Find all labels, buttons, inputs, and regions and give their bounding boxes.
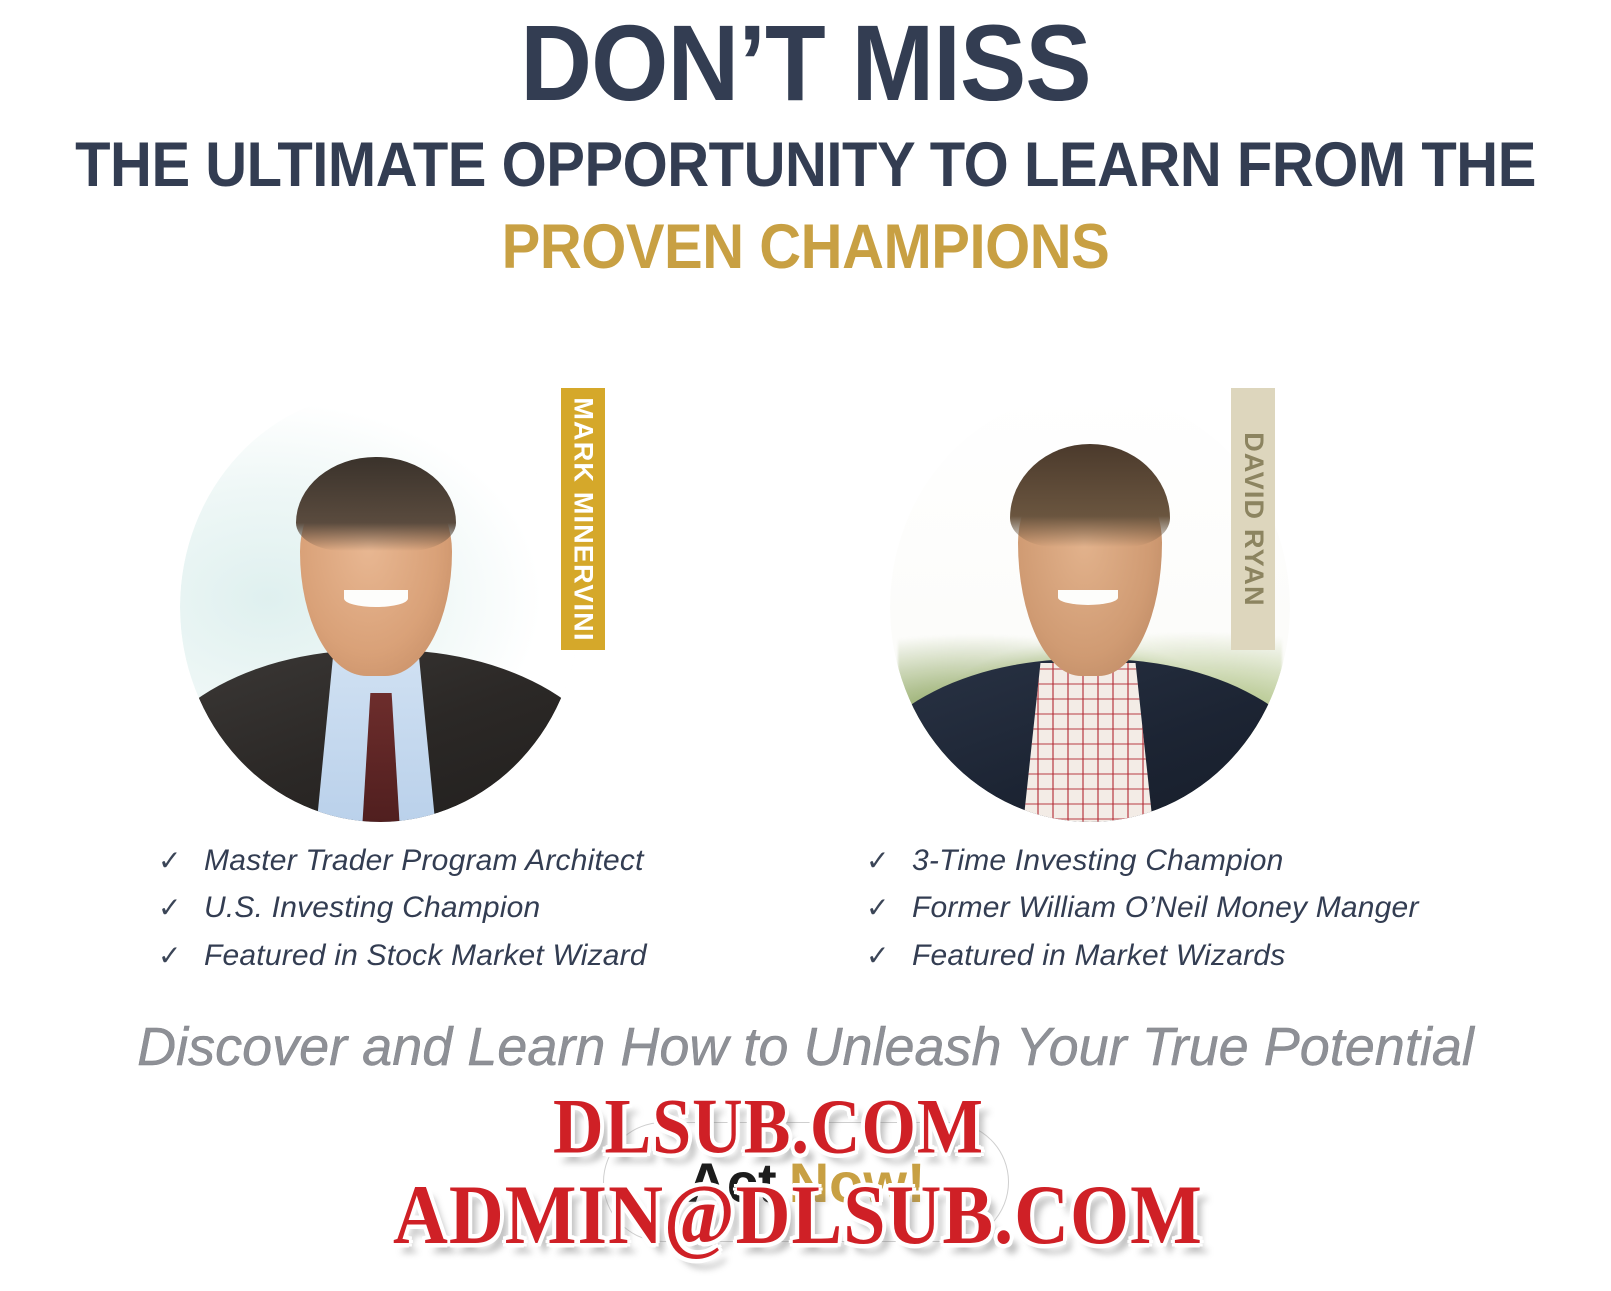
profile-card-david-ryan: DAVID RYAN	[890, 380, 1370, 830]
portrait-checked-shirt	[1022, 663, 1154, 822]
check-icon: ✓	[866, 942, 892, 970]
watermark-contact-email: ADMIN@DLSUB.COM	[393, 1167, 1203, 1264]
list-item: ✓ 3-Time Investing Champion	[866, 843, 1419, 878]
credentials-list-mark-minervini: ✓ Master Trader Program Architect ✓ U.S.…	[158, 843, 647, 985]
list-item-label: Former William O’Neil Money Manger	[912, 890, 1419, 925]
list-item-label: Featured in Stock Market Wizard	[204, 938, 647, 973]
check-icon: ✓	[866, 847, 892, 875]
headline-block: DON’T MISS THE ULTIMATE OPPORTUNITY TO L…	[0, 0, 1611, 280]
credentials-list-david-ryan: ✓ 3-Time Investing Champion ✓ Former Wil…	[866, 843, 1419, 985]
name-banner-label: MARK MINERVINI	[568, 397, 599, 641]
check-icon: ✓	[866, 894, 892, 922]
profiles-row: MARK MINERVINI DAVID RYAN	[0, 380, 1611, 840]
list-item: ✓ Featured in Market Wizards	[866, 938, 1419, 973]
credentials-lists: ✓ Master Trader Program Architect ✓ U.S.…	[0, 843, 1611, 973]
list-item-label: Featured in Market Wizards	[912, 938, 1285, 973]
list-item: ✓ Featured in Stock Market Wizard	[158, 938, 647, 973]
list-item: ✓ Former William O’Neil Money Manger	[866, 890, 1419, 925]
check-icon: ✓	[158, 847, 184, 875]
headline-line-3-highlight: PROVEN CHAMPIONS	[64, 214, 1546, 280]
portrait-smile	[1058, 590, 1118, 605]
headline-line-1: DON’T MISS	[64, 8, 1546, 118]
list-item: ✓ Master Trader Program Architect	[158, 843, 647, 878]
check-icon: ✓	[158, 894, 184, 922]
list-item-label: U.S. Investing Champion	[204, 890, 540, 925]
portrait-photo-david-ryan	[890, 392, 1290, 822]
tagline: Discover and Learn How to Unleash Your T…	[0, 1018, 1611, 1077]
name-banner-label: DAVID RYAN	[1238, 432, 1269, 607]
list-item-label: Master Trader Program Architect	[204, 843, 644, 878]
check-icon: ✓	[158, 942, 184, 970]
headline-line-2: THE ULTIMATE OPPORTUNITY TO LEARN FROM T…	[64, 132, 1546, 198]
portrait-photo-mark-minervini	[180, 392, 580, 822]
profile-card-mark-minervini: MARK MINERVINI	[180, 380, 660, 830]
list-item: ✓ U.S. Investing Champion	[158, 890, 647, 925]
watermark-site-url: DLSUB.COM	[553, 1083, 984, 1173]
portrait-smile	[344, 590, 408, 607]
name-banner-david-ryan: DAVID RYAN	[1231, 388, 1275, 650]
name-banner-mark-minervini: MARK MINERVINI	[561, 388, 605, 650]
list-item-label: 3-Time Investing Champion	[912, 843, 1284, 878]
